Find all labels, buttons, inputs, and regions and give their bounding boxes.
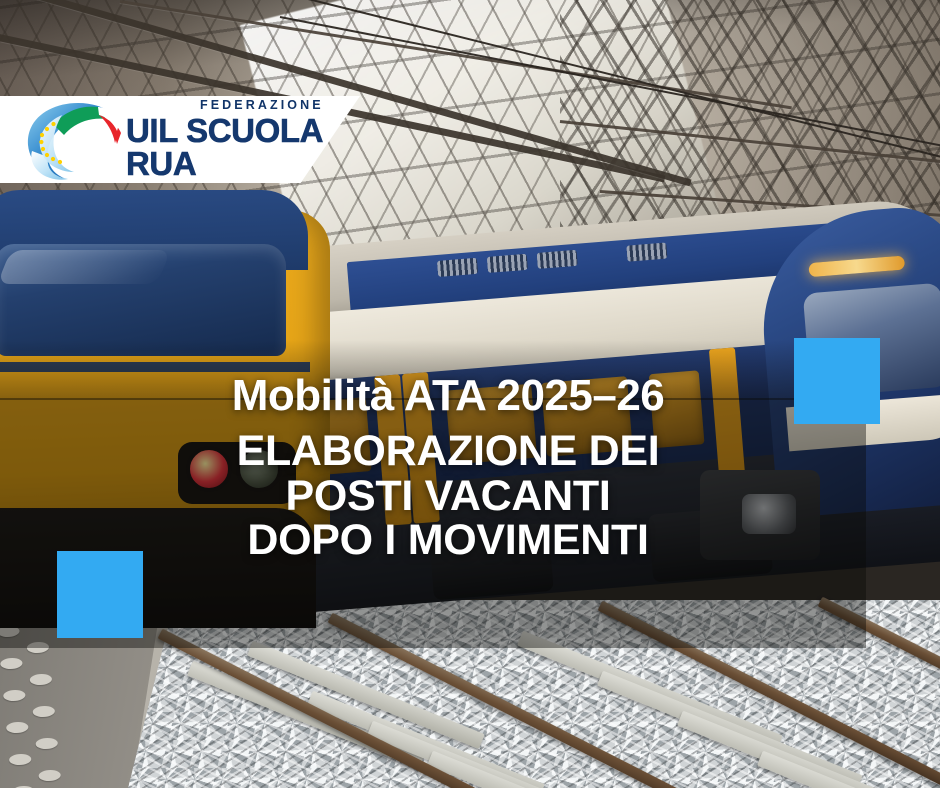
italian-eu-ribbon-icon <box>20 99 132 181</box>
logo-federazione-text: FEDERAZIONE <box>200 99 360 112</box>
emu-roof-vent <box>537 250 578 269</box>
emu-roof-vent <box>437 258 478 277</box>
emu-roof-vent <box>626 243 667 262</box>
uil-scuola-rua-banner[interactable]: FEDERAZIONE UIL SCUOLA RUA <box>0 96 360 183</box>
emu-roof-vent <box>487 254 528 273</box>
headline-subtitle: ELABORAZIONE DEI POSTI VACANTI DOPO I MO… <box>0 429 866 563</box>
subtitle-line-2: POSTI VACANTI <box>30 474 866 519</box>
logo-lockup: FEDERAZIONE UIL SCUOLA RUA <box>0 99 360 181</box>
accent-square-bottom-left <box>57 551 143 638</box>
page-title: Mobilità ATA 2025–26 <box>0 374 866 418</box>
poster-canvas: FEDERAZIONE UIL SCUOLA RUA Mobilità ATA … <box>0 0 940 788</box>
subtitle-line-1: ELABORAZIONE DEI <box>30 429 866 474</box>
subtitle-line-3: DOPO I MOVIMENTI <box>30 518 866 563</box>
headline-block: Mobilità ATA 2025–26 ELABORAZIONE DEI PO… <box>0 374 866 563</box>
